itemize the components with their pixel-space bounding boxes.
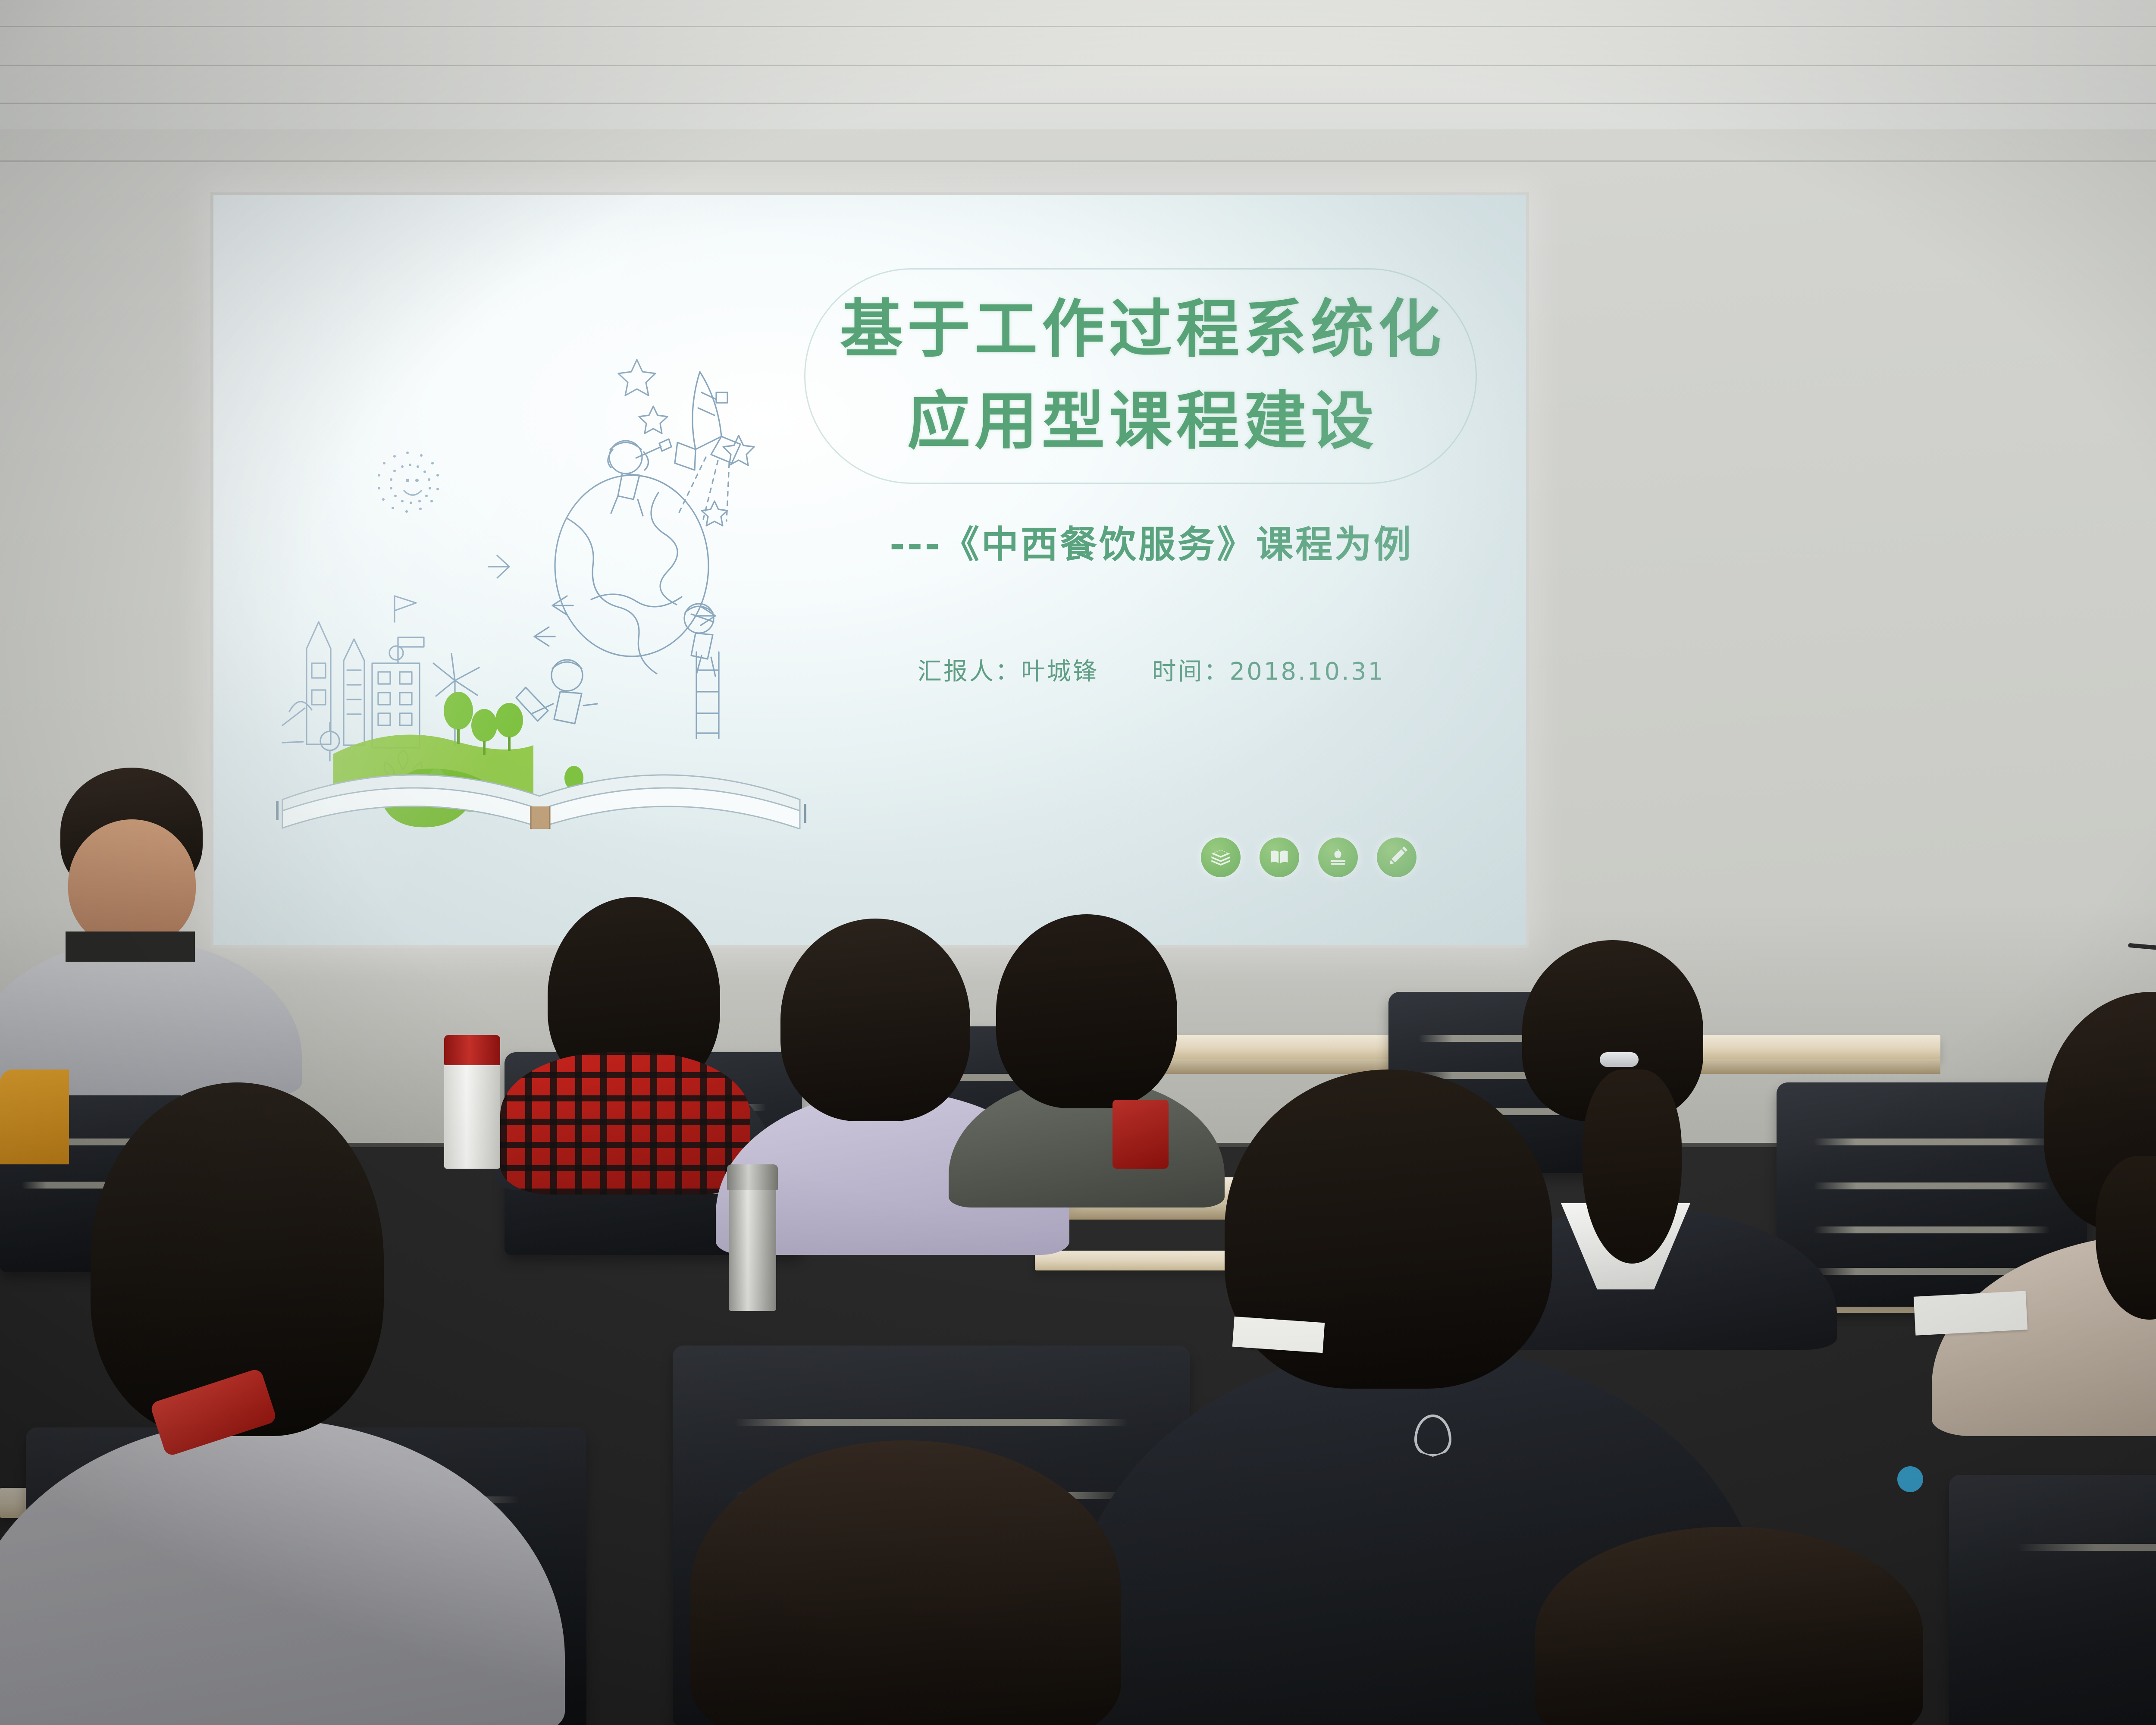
- ceiling: [0, 0, 2156, 129]
- chair: [1949, 1475, 2156, 1725]
- attendee-hair: [1535, 1527, 1923, 1725]
- lecture-room-scene: 基于工作过程系统化 应用型课程建设 ---《中西餐饮服务》课程为例 汇报人：叶城…: [0, 0, 2156, 1725]
- attendee-head: [68, 819, 196, 949]
- ceiling-panel-line: [0, 65, 2156, 66]
- stacked-books-icon: [1201, 837, 1241, 877]
- ceiling-panel-line: [0, 103, 2156, 104]
- attendee-hair: [690, 1440, 1121, 1725]
- slide-presenter-label: 汇报人：叶城锋: [918, 658, 1099, 686]
- white-thermos: [444, 1052, 500, 1169]
- hair-tie: [1600, 1052, 1639, 1067]
- attendee-hair: [780, 919, 970, 1121]
- steel-thermos-cap: [727, 1164, 778, 1190]
- projection-screen: 基于工作过程系统化 应用型课程建设 ---《中西餐饮服务》课程为例 汇报人：叶城…: [213, 195, 1526, 945]
- slide-icon-row: [1201, 837, 1416, 877]
- paper-sheet: [1914, 1291, 2028, 1335]
- attendee-gray-tee-lanyard: [13, 1082, 509, 1725]
- attendee-plaid-scarf: [500, 1052, 750, 1195]
- attendee-beige-coat: [1966, 992, 2156, 1423]
- open-book-icon: [1260, 837, 1299, 877]
- red-thermos-cap: [444, 1035, 500, 1065]
- apple-on-book-icon: [1318, 837, 1358, 877]
- slide-title-line-1: 基于工作过程系统化: [815, 284, 1470, 376]
- slide-title: 基于工作过程系统化 应用型课程建设: [815, 284, 1470, 467]
- ceiling-panel-line: [0, 26, 2156, 27]
- attendee-gray-shirt-left: [0, 768, 345, 1087]
- slide-title-line-2: 应用型课程建设: [815, 376, 1470, 467]
- attendee-foreground-right: [1535, 1527, 1923, 1725]
- paper-sheet: [1232, 1317, 1325, 1353]
- steel-thermos: [729, 1182, 776, 1311]
- attendee-yellow-sleeve: [0, 1069, 69, 1164]
- attendee-foreground-center: [690, 1440, 1121, 1725]
- slide-meta: 汇报人：叶城锋 时间：2018.10.31: [815, 652, 1488, 687]
- wall-seam: [0, 160, 2156, 162]
- pencil-icon: [1377, 837, 1416, 877]
- slide-subtitle: ---《中西餐饮服务》课程为例: [815, 514, 1488, 568]
- blue-object: [1897, 1466, 1923, 1492]
- slide-illustration: [265, 320, 817, 829]
- attendee-collar: [66, 931, 195, 962]
- slide-date-label: 时间：2018.10.31: [1152, 658, 1385, 686]
- attendee-torso: [0, 1419, 565, 1725]
